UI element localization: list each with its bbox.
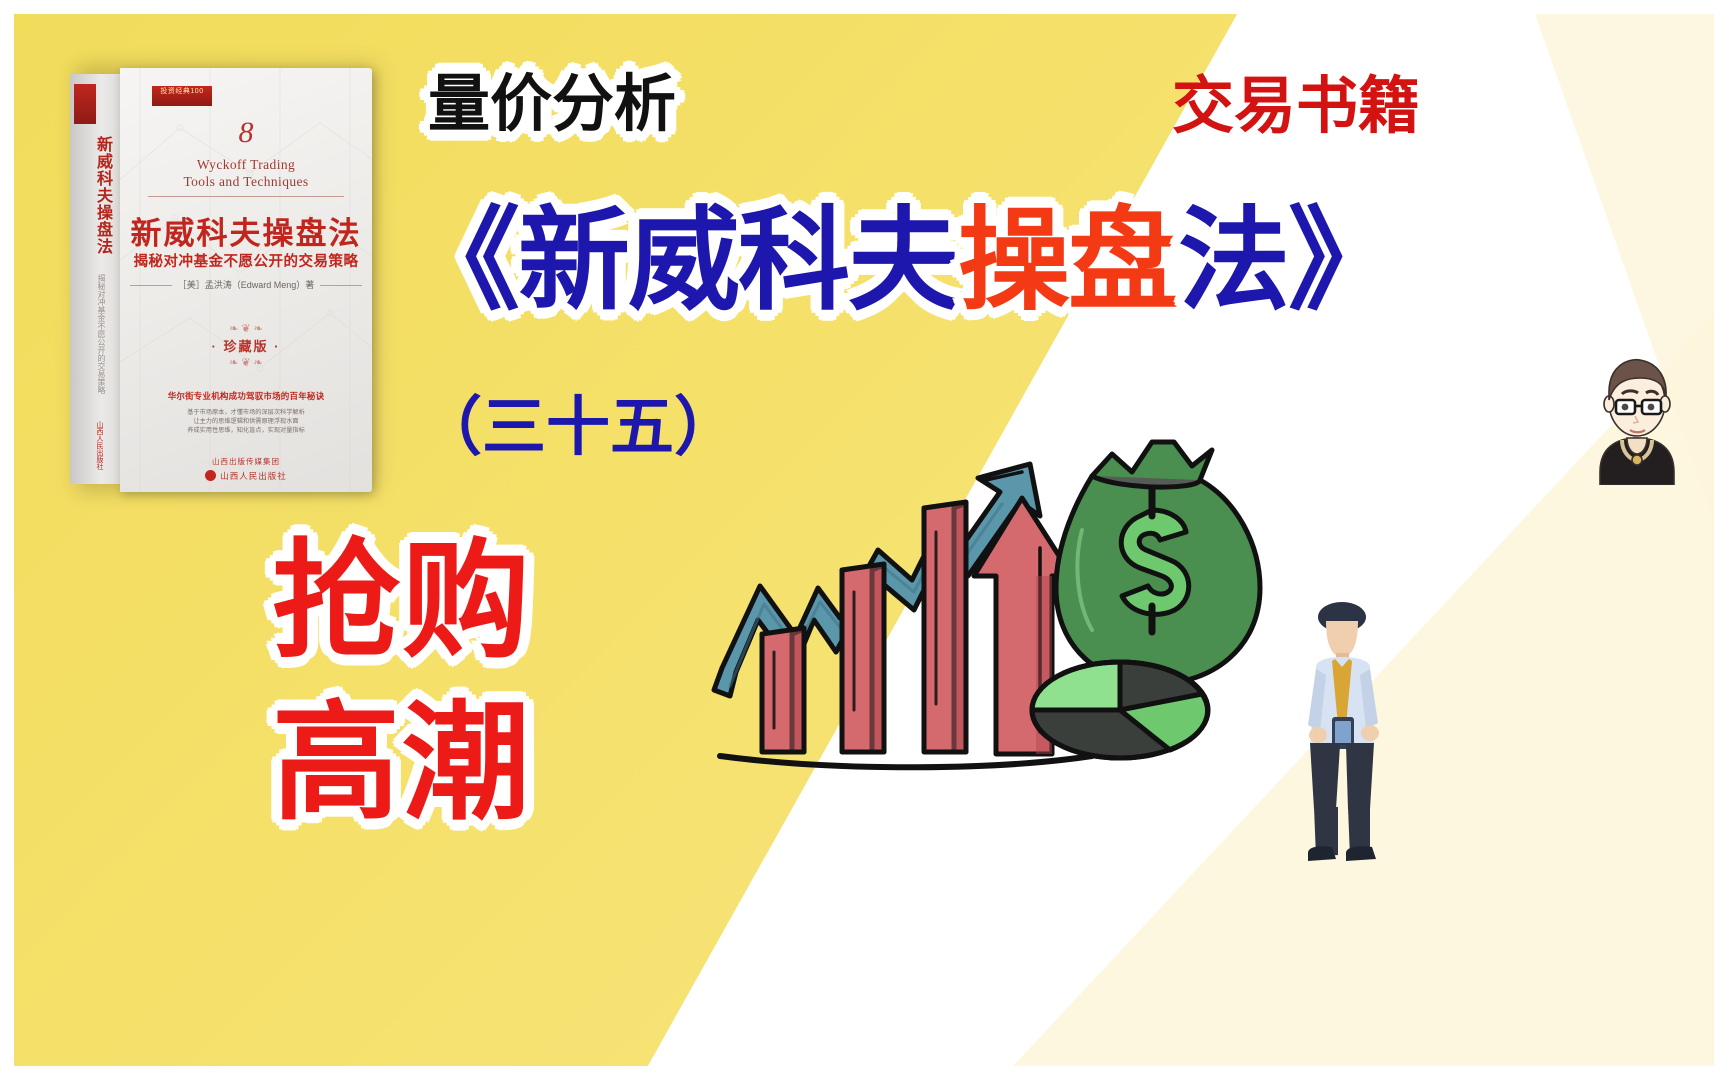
episode-number-label: （三十五）	[418, 395, 738, 459]
cover-corner-tag-label: 投资经典100	[152, 86, 212, 97]
main-title: 《新威科夫操盘法》	[408, 205, 1398, 317]
red-bar-3	[924, 502, 966, 752]
money-bag	[1056, 442, 1260, 684]
cover-english-line-1: Wyckoff Trading	[120, 156, 372, 173]
cover-author-row: ［美］孟洪涛（Edward Meng）著	[120, 278, 372, 291]
businessman-hand-left	[1309, 727, 1327, 743]
book-cover-image: 新威科夫操盘法 揭秘对冲基金不愿公开的交易策略 山西人民出版社 投资经典100	[62, 52, 380, 497]
spine-publisher: 山西人民出版社	[90, 421, 104, 470]
book-spine: 新威科夫操盘法 揭秘对冲基金不愿公开的交易策略 山西人民出版社	[70, 74, 122, 484]
cover-divider	[148, 196, 344, 197]
cover-bullet: 养成实用性思维，知化盲点，实现对量指标	[150, 426, 342, 435]
main-title-segment-1: 《新威科夫	[408, 198, 958, 323]
businessman-head	[1326, 621, 1358, 657]
businessman-shoe-left	[1308, 846, 1336, 861]
presenter-avatar	[1578, 340, 1696, 485]
cover-author-rule-left	[130, 285, 172, 286]
cover-ornament-bottom: ❧ ❦ ❧	[120, 356, 372, 369]
cover-bullet: 让主力的思维逻辑和供需原理浮现水面	[150, 417, 342, 426]
cta-line-2: 高潮	[272, 700, 532, 828]
cover-corner-tag: 投资经典100	[152, 86, 212, 106]
businessman-phone-screen	[1335, 721, 1351, 745]
cover-ornament-top: ❧ ❦ ❧	[120, 322, 372, 335]
cover-bullet: 基于市场原本，才懂市场的深层次科学解析	[150, 408, 342, 417]
cover-edition: · 珍藏版 ·	[120, 336, 372, 355]
main-title-segment-2: 操盘	[958, 198, 1178, 323]
avatar-eye-left	[1622, 404, 1629, 411]
category-tag-label: 交易书籍	[1172, 76, 1420, 138]
spine-subtitle: 揭秘对冲基金不愿公开的交易策略	[92, 274, 106, 394]
spine-top-band	[74, 84, 96, 124]
avatar-bowtie	[1632, 455, 1642, 465]
publisher-logo-icon	[205, 470, 216, 481]
cover-subtitle: 揭秘对冲基金不愿公开的交易策略	[120, 250, 372, 271]
red-bar-2	[842, 564, 884, 752]
topic-tag-label: 量价分析	[428, 74, 676, 136]
cover-title: 新威科夫操盘法	[120, 208, 372, 253]
main-title-segment-3: 法》	[1178, 198, 1398, 323]
growth-chart-illustration	[700, 380, 1240, 760]
cover-publisher: 山西人民出版社	[120, 470, 372, 482]
businessman-trousers	[1310, 743, 1374, 809]
cover-blurb: 华尔街专业机构成功驾驭市场的百年秘诀	[142, 390, 350, 402]
thumbnail-canvas: 新威科夫操盘法 揭秘对冲基金不愿公开的交易策略 山西人民出版社 投资经典100	[0, 0, 1728, 1080]
cover-bullets: 基于市场原本，才懂市场的深层次科学解析 让主力的思维逻辑和供需原理浮现水面 养成…	[150, 408, 342, 435]
businessman-figure	[1280, 595, 1410, 880]
avatar-eye-right	[1648, 404, 1655, 411]
cover-publisher-name: 山西人民出版社	[220, 471, 287, 481]
book-front-cover: 投资经典100 8 Wyckoff Trading Tools and Tech…	[120, 68, 372, 492]
cover-author-rule-right	[320, 285, 362, 286]
cover-author: ［美］孟洪涛（Edward Meng）著	[178, 280, 315, 290]
cta-line-1: 抢购	[272, 538, 532, 666]
pie-chart	[1032, 662, 1208, 758]
cover-monogram: 8	[120, 116, 372, 150]
businessman-hand-right	[1361, 725, 1379, 741]
spine-title: 新威科夫操盘法	[86, 136, 112, 255]
red-bar-1	[762, 628, 804, 752]
businessman-shoe-right	[1346, 846, 1376, 861]
cover-publisher-group: 山西出版传媒集团	[120, 456, 372, 467]
cover-english-title: Wyckoff Trading Tools and Techniques	[120, 156, 372, 190]
cover-english-line-2: Tools and Techniques	[120, 173, 372, 190]
cover-publisher-block: 山西出版传媒集团 山西人民出版社	[120, 456, 372, 482]
